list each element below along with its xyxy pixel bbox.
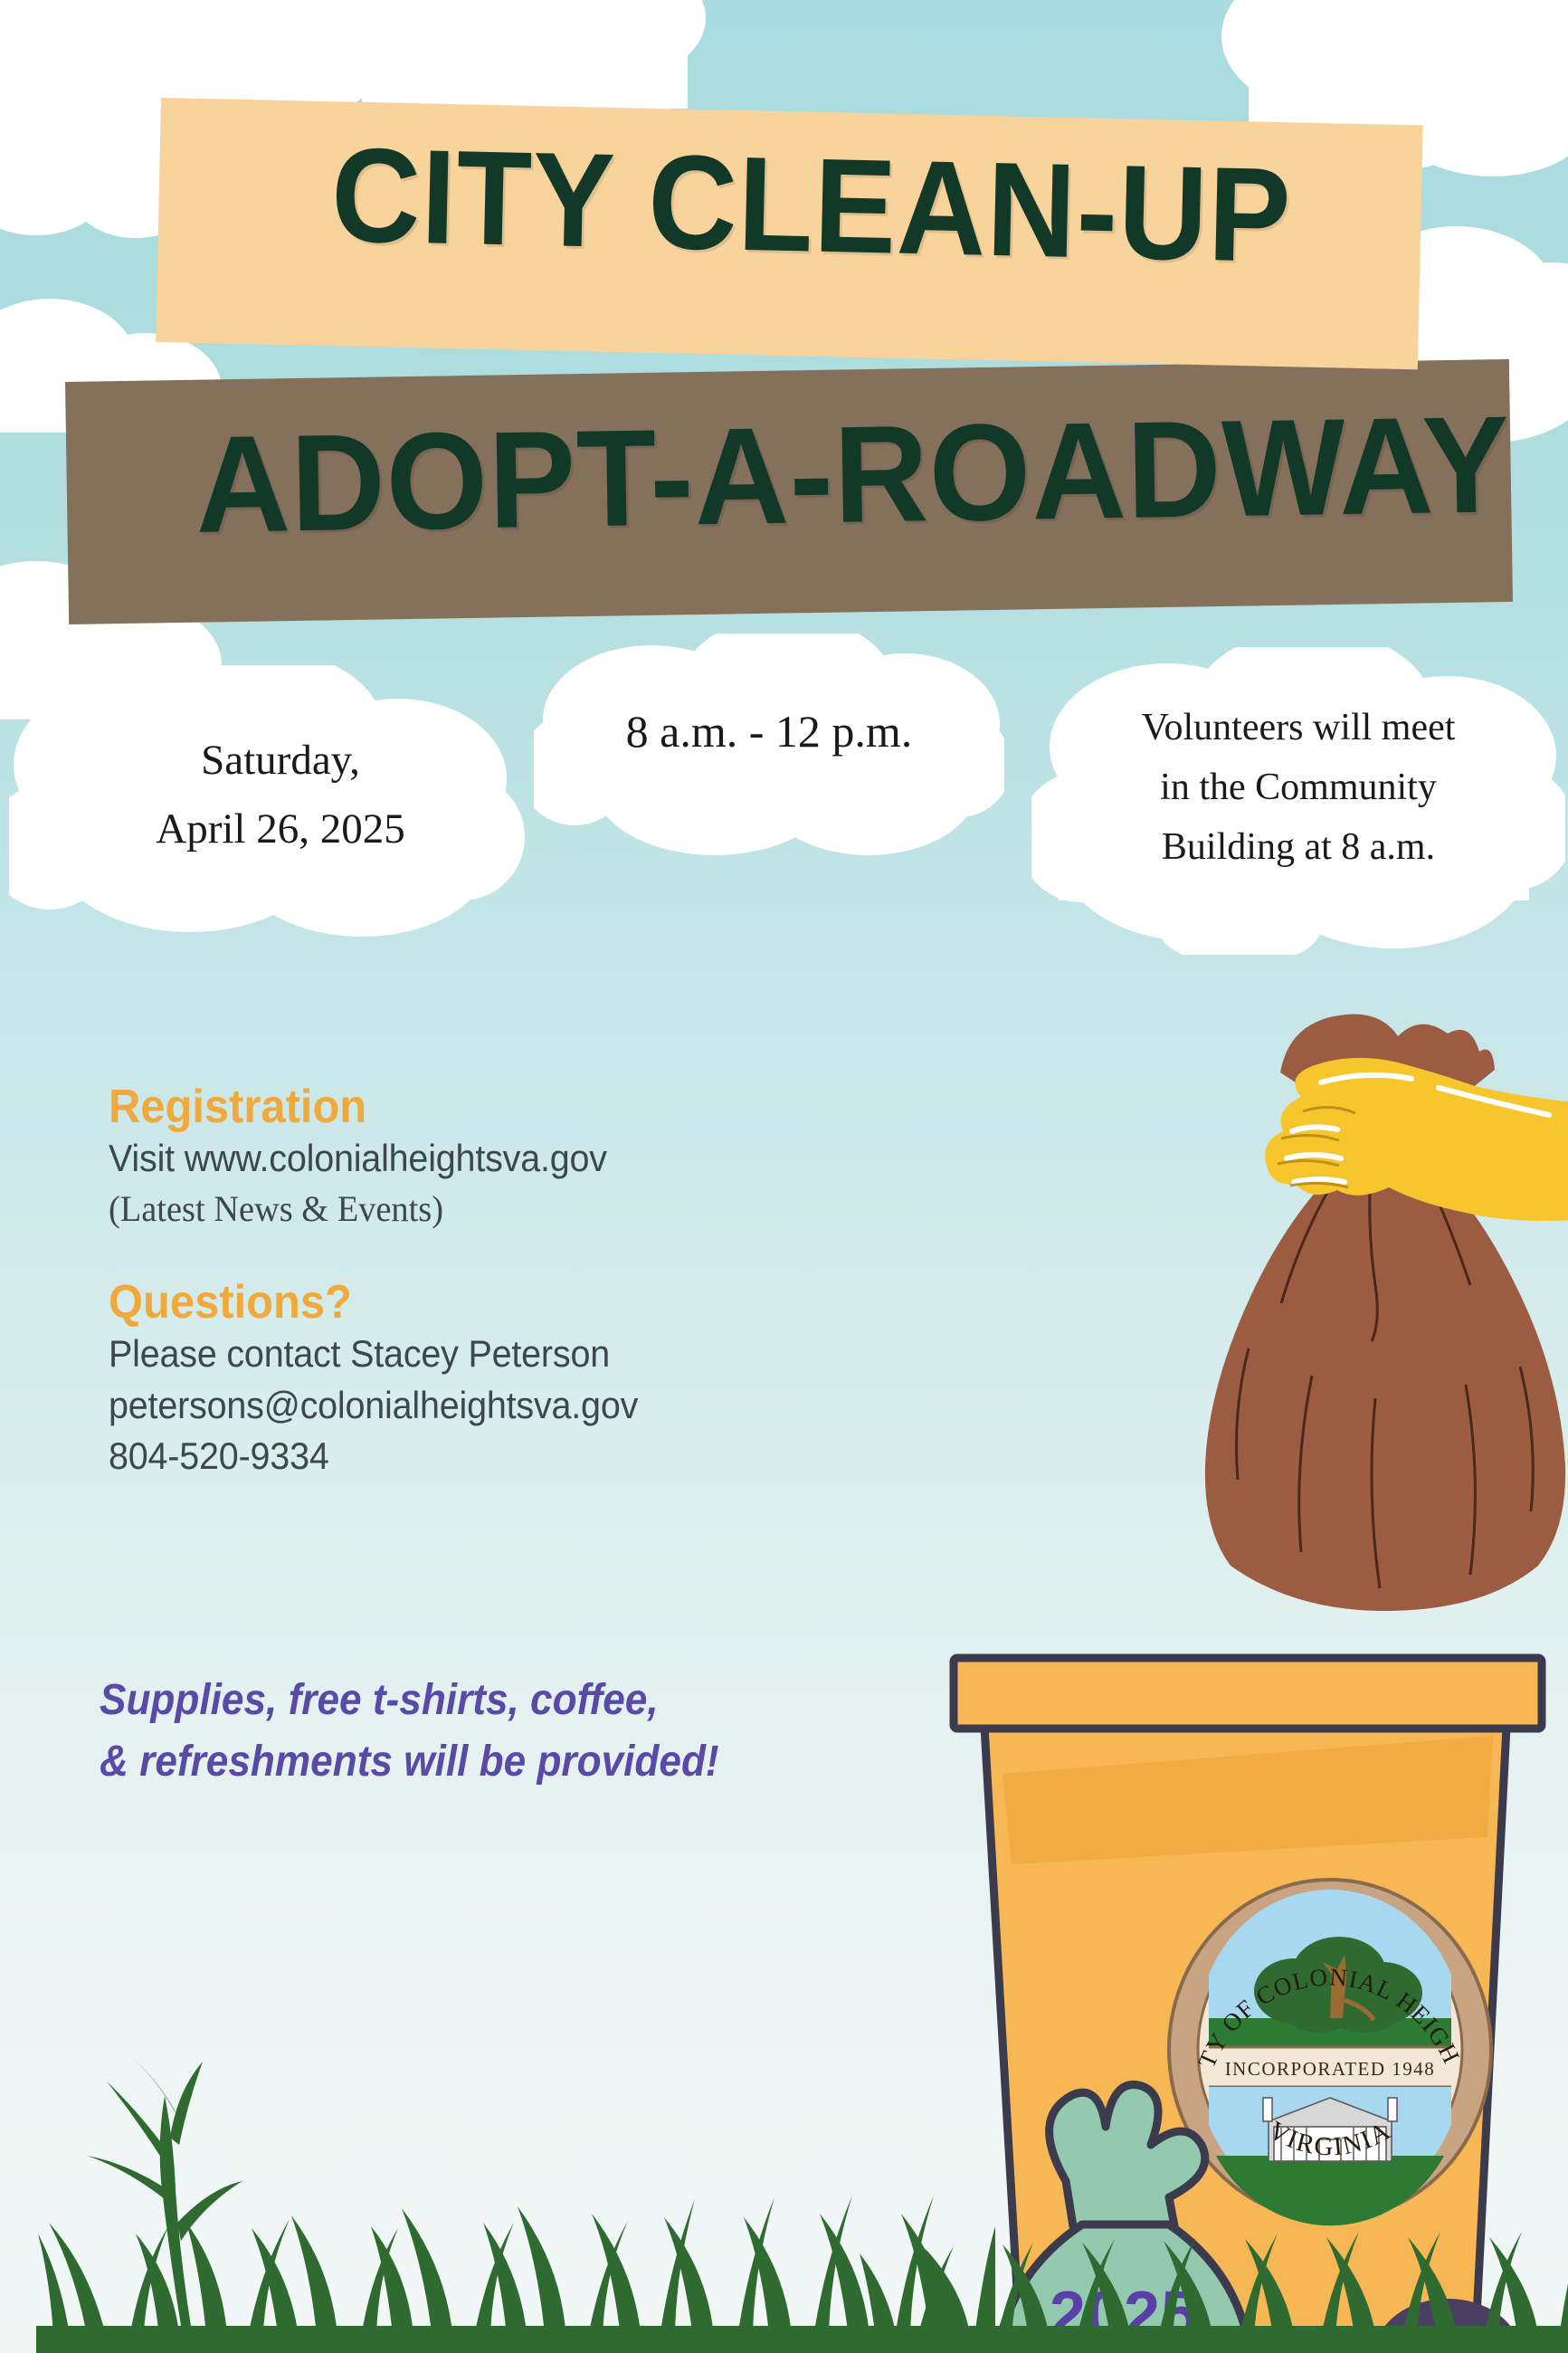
- grass-foreground-left: [0, 2054, 995, 2353]
- bin-lid: [954, 1658, 1542, 1729]
- headline-adopt-a-roadway: ADOPT-A-ROADWAY: [195, 395, 1511, 554]
- flyer-poster: CITY CLEAN-UP ADOPT-A-ROADWAY Saturday, …: [0, 0, 1568, 2353]
- meeting-cloud-line2: in the Community: [1031, 761, 1565, 815]
- body-copy-block: Registration Visit www.colonialheightsva…: [109, 1081, 923, 1482]
- time-cloud: 8 a.m. - 12 p.m.: [534, 633, 1004, 860]
- registration-note: (Latest News & Events): [109, 1185, 890, 1234]
- yellow-glove: [1265, 1058, 1568, 1221]
- supplies-line2: & refreshments will be provided!: [100, 1731, 890, 1793]
- meeting-cloud-line1: Volunteers will meet: [1031, 701, 1565, 756]
- supplies-line1: Supplies, free t-shirts, coffee,: [100, 1670, 890, 1731]
- registration-website[interactable]: Visit www.colonialheightsva.gov: [109, 1133, 874, 1185]
- date-cloud-line1: Saturday,: [9, 730, 552, 791]
- registration-heading: Registration: [109, 1081, 874, 1133]
- questions-email[interactable]: petersons@colonialheightsva.gov: [109, 1380, 874, 1432]
- meeting-cloud: Volunteers will meet in the Community Bu…: [1031, 647, 1565, 955]
- questions-contact-name: Please contact Stacey Peterson: [109, 1329, 874, 1380]
- hand-holding-trash-bag-illustration: [1194, 986, 1568, 1620]
- date-cloud-line2: April 26, 2025: [9, 799, 552, 860]
- headline-city-cleanup: CITY CLEAN-UP: [330, 129, 1293, 283]
- copy-spacer: [109, 1234, 923, 1277]
- supplies-note: Supplies, free t-shirts, coffee, & refre…: [100, 1670, 890, 1793]
- seal-incorporated-text: INCORPORATED 1948: [1225, 2058, 1436, 2080]
- questions-phone[interactable]: 804-520-9334: [109, 1431, 874, 1482]
- meeting-cloud-line3: Building at 8 a.m.: [1031, 821, 1565, 875]
- time-cloud-line1: 8 a.m. - 12 p.m.: [534, 700, 1004, 764]
- grass-blades-right: [860, 2232, 1568, 2353]
- grass-foreground-right: [860, 2190, 1568, 2353]
- date-cloud: Saturday, April 26, 2025: [9, 665, 552, 937]
- questions-heading: Questions?: [109, 1277, 874, 1329]
